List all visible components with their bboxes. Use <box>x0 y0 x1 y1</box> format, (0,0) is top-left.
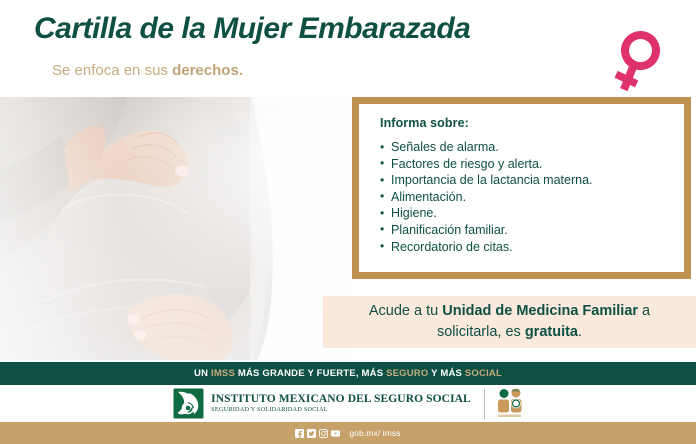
info-box: Informa sobre: Señales de alarma. Factor… <box>352 97 691 279</box>
page-subtitle: Se enfoca en sus derechos. <box>52 62 243 79</box>
logo-strip: INSTITUTO MEXICANO DEL SEGURO SOCIAL SEG… <box>0 385 696 422</box>
social-links-group: gob.mx/ imss <box>295 428 400 438</box>
imss-80-anos-anniversary-icon: AÑOS <box>496 388 523 419</box>
list-item: Planificación familiar. <box>380 222 674 239</box>
info-box-list: Señales de alarma. Factores de riesgo y … <box>380 139 674 255</box>
tagline-w1: UN <box>194 368 211 379</box>
list-item: Importancia de la lactancia materna. <box>380 172 674 189</box>
twitter-icon[interactable] <box>307 429 316 438</box>
youtube-icon[interactable] <box>331 429 340 438</box>
tagline-w2: MÁS GRANDE Y FUERTE, MÁS <box>235 368 386 379</box>
social-url-label[interactable]: gob.mx/ imss <box>349 428 400 438</box>
instagram-icon[interactable] <box>319 429 328 438</box>
imss-wordmark: INSTITUTO MEXICANO DEL SEGURO SOCIAL SEG… <box>211 394 471 414</box>
cta-part-3: . <box>578 324 582 340</box>
subtitle-emphasis: derechos. <box>172 62 243 79</box>
tagline-seguro: SEGURO <box>386 368 428 379</box>
tagline-text: UN IMSS MÁS GRANDE Y FUERTE, MÁS SEGURO … <box>194 368 502 379</box>
social-bar: gob.mx/ imss <box>0 422 696 444</box>
imss-eagle-seal-icon <box>173 388 204 419</box>
header-section: Cartilla de la Mujer Embarazada Se enfoc… <box>0 0 696 97</box>
tagline-bar: UN IMSS MÁS GRANDE Y FUERTE, MÁS SEGURO … <box>0 362 696 385</box>
cta-part-1: Acude a tu <box>369 303 442 319</box>
venus-female-symbol-icon <box>600 27 672 95</box>
facebook-icon[interactable] <box>295 429 304 438</box>
list-item: Señales de alarma. <box>380 139 674 156</box>
list-item: Alimentación. <box>380 189 674 206</box>
call-to-action-text: Acude a tu Unidad de Medicina Familiar a… <box>323 301 696 343</box>
pregnant-woman-photo <box>0 97 350 360</box>
page-title: Cartilla de la Mujer Embarazada <box>34 12 470 46</box>
photo-illustration <box>0 97 350 360</box>
cta-emphasis-gratuita: gratuita <box>525 324 578 340</box>
tagline-social: SOCIAL <box>465 368 502 379</box>
subtitle-lead: Se enfoca en sus <box>52 62 172 79</box>
logo-divider <box>484 389 485 419</box>
list-item: Higiene. <box>380 205 674 222</box>
imss-institution-name: INSTITUTO MEXICANO DEL SEGURO SOCIAL <box>211 394 471 406</box>
poster-canvas: Cartilla de la Mujer Embarazada Se enfoc… <box>0 0 696 444</box>
list-item: Factores de riesgo y alerta. <box>380 156 674 173</box>
info-box-heading: Informa sobre: <box>380 116 674 130</box>
tagline-imss: IMSS <box>211 368 235 379</box>
logo-row: INSTITUTO MEXICANO DEL SEGURO SOCIAL SEG… <box>173 388 523 419</box>
cta-emphasis-unidad: Unidad de Medicina Familiar <box>442 303 638 319</box>
list-item: Recordatorio de citas. <box>380 239 674 256</box>
call-to-action-box: Acude a tu Unidad de Medicina Familiar a… <box>323 296 696 348</box>
tagline-w3: Y MÁS <box>428 368 464 379</box>
imss-slogan: SEGURIDAD Y SOLIDARIDAD SOCIAL <box>211 407 471 413</box>
